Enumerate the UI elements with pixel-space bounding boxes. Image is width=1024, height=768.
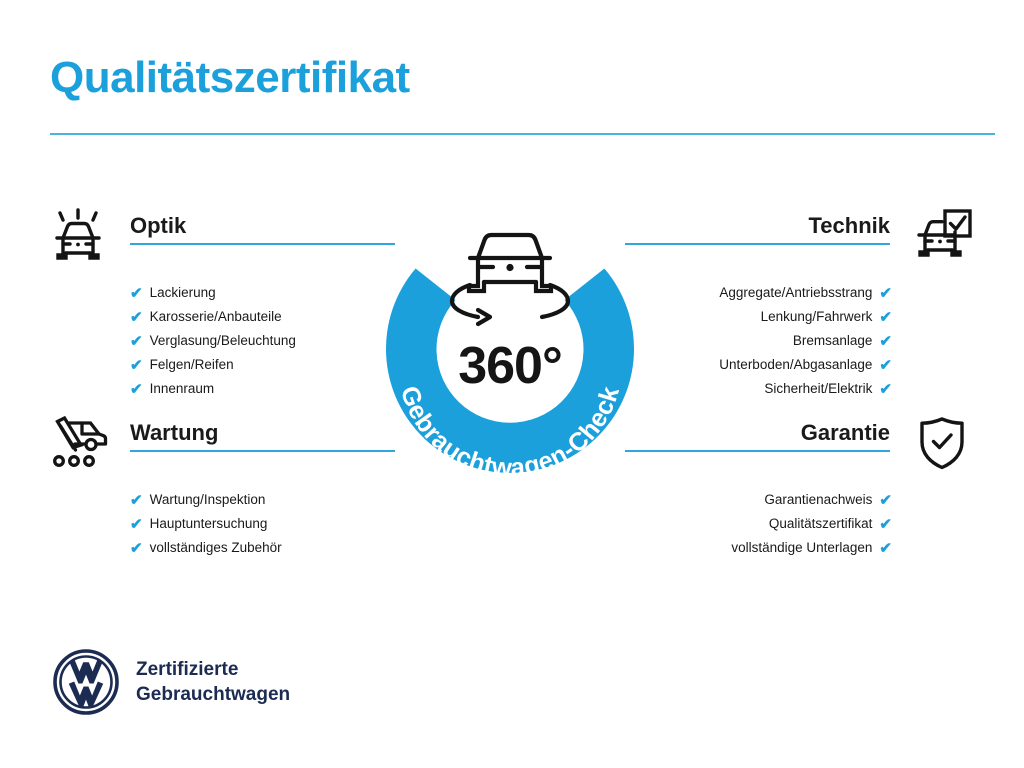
list-item-label: vollständiges Zubehör <box>150 536 282 560</box>
section-divider <box>625 243 890 245</box>
list-item: Bremsanlage✔ <box>625 329 980 353</box>
section-garantie: Garantie Garantienachweis✔ Qualitätszert… <box>625 412 980 560</box>
section-title-wrap: Garantie <box>625 420 890 452</box>
check-icon: ✔ <box>130 541 143 556</box>
section-title-wrap: Wartung <box>130 420 395 452</box>
check-icon: ✔ <box>879 382 892 397</box>
car-pencil-service-icon <box>42 412 114 474</box>
section-header: Garantie <box>625 412 980 474</box>
list-item: Sicherheit/Elektrik✔ <box>625 377 980 401</box>
section-title-wrap: Optik <box>130 213 395 245</box>
check-icon: ✔ <box>879 541 892 556</box>
section-header: Wartung <box>40 412 395 474</box>
checklist: Aggregate/Antriebsstrang✔ Lenkung/Fahrwe… <box>625 281 980 401</box>
gebrauchtwagen-check-badge: Gebrauchtwagen-Check 360° <box>374 196 646 488</box>
list-item-label: Hauptuntersuchung <box>150 512 268 536</box>
section-title: Optik <box>130 213 395 238</box>
list-item: Lenkung/Fahrwerk✔ <box>625 305 980 329</box>
checklist: ✔Lackierung ✔Karosserie/Anbauteile ✔Verg… <box>40 281 395 401</box>
check-icon: ✔ <box>130 358 143 373</box>
list-item: ✔Wartung/Inspektion <box>40 488 395 512</box>
certificate-page: Qualitätszertifikat <box>0 0 1024 768</box>
section-header: Optik <box>40 205 395 267</box>
list-item-label: Garantienachweis <box>764 488 872 512</box>
list-item: Garantienachweis✔ <box>625 488 980 512</box>
list-item: Qualitätszertifikat✔ <box>625 512 980 536</box>
list-item-label: Qualitätszertifikat <box>769 512 873 536</box>
check-icon: ✔ <box>130 310 143 325</box>
list-item: ✔Karosserie/Anbauteile <box>40 305 395 329</box>
vw-lockup-line1: Zertifizierte <box>136 657 290 682</box>
list-item-label: Verglasung/Beleuchtung <box>150 329 296 353</box>
list-item-label: Aggregate/Antriebsstrang <box>719 281 872 305</box>
check-icon: ✔ <box>130 286 143 301</box>
check-icon: ✔ <box>879 493 892 508</box>
list-item-label: vollständige Unterlagen <box>731 536 872 560</box>
car-checkbox-icon <box>906 205 978 267</box>
section-wartung: Wartung ✔Wartung/Inspektion ✔Hauptunters… <box>40 412 395 560</box>
list-item: ✔Lackierung <box>40 281 395 305</box>
checklist: ✔Wartung/Inspektion ✔Hauptuntersuchung ✔… <box>40 488 395 560</box>
list-item: Unterboden/Abgasanlage✔ <box>625 353 980 377</box>
title-divider <box>50 133 995 135</box>
section-divider <box>130 243 395 245</box>
list-item-label: Bremsanlage <box>793 329 873 353</box>
list-item-label: Wartung/Inspektion <box>150 488 266 512</box>
check-icon: ✔ <box>879 334 892 349</box>
list-item: Aggregate/Antriebsstrang✔ <box>625 281 980 305</box>
checklist: Garantienachweis✔ Qualitätszertifikat✔ v… <box>625 488 980 560</box>
section-header: Technik <box>625 205 980 267</box>
section-optik: Optik ✔Lackierung ✔Karosserie/Anbauteile… <box>40 205 395 401</box>
section-title: Wartung <box>130 420 395 445</box>
list-item: ✔vollständiges Zubehör <box>40 536 395 560</box>
list-item: ✔Innenraum <box>40 377 395 401</box>
shield-check-icon <box>906 412 978 474</box>
list-item-label: Lackierung <box>150 281 216 305</box>
check-icon: ✔ <box>879 358 892 373</box>
list-item-label: Karosserie/Anbauteile <box>150 305 282 329</box>
section-title: Technik <box>625 213 890 238</box>
section-divider <box>625 450 890 452</box>
vw-logo <box>52 648 120 716</box>
section-title: Garantie <box>625 420 890 445</box>
car-front-shine-icon <box>42 205 114 267</box>
check-icon: ✔ <box>879 310 892 325</box>
check-icon: ✔ <box>879 517 892 532</box>
vw-lockup-text: Zertifizierte Gebrauchtwagen <box>136 657 290 707</box>
list-item-label: Innenraum <box>150 377 215 401</box>
section-technik: Technik Aggregate/Antriebsstrang✔ Lenkun… <box>625 205 980 401</box>
vw-certified-lockup: Zertifizierte Gebrauchtwagen <box>52 648 290 716</box>
car-rotate-icon <box>452 235 568 324</box>
list-item: ✔Hauptuntersuchung <box>40 512 395 536</box>
check-icon: ✔ <box>130 493 143 508</box>
section-title-wrap: Technik <box>625 213 890 245</box>
list-item: ✔Felgen/Reifen <box>40 353 395 377</box>
check-icon: ✔ <box>130 334 143 349</box>
page-title: Qualitätszertifikat <box>50 54 410 102</box>
list-item: ✔Verglasung/Beleuchtung <box>40 329 395 353</box>
check-icon: ✔ <box>130 382 143 397</box>
list-item: vollständige Unterlagen✔ <box>625 536 980 560</box>
check-icon: ✔ <box>879 286 892 301</box>
section-divider <box>130 450 395 452</box>
list-item-label: Lenkung/Fahrwerk <box>761 305 873 329</box>
list-item-label: Unterboden/Abgasanlage <box>719 353 872 377</box>
check-icon: ✔ <box>130 517 143 532</box>
list-item-label: Sicherheit/Elektrik <box>764 377 872 401</box>
vw-lockup-line2: Gebrauchtwagen <box>136 682 290 707</box>
list-item-label: Felgen/Reifen <box>150 353 234 377</box>
